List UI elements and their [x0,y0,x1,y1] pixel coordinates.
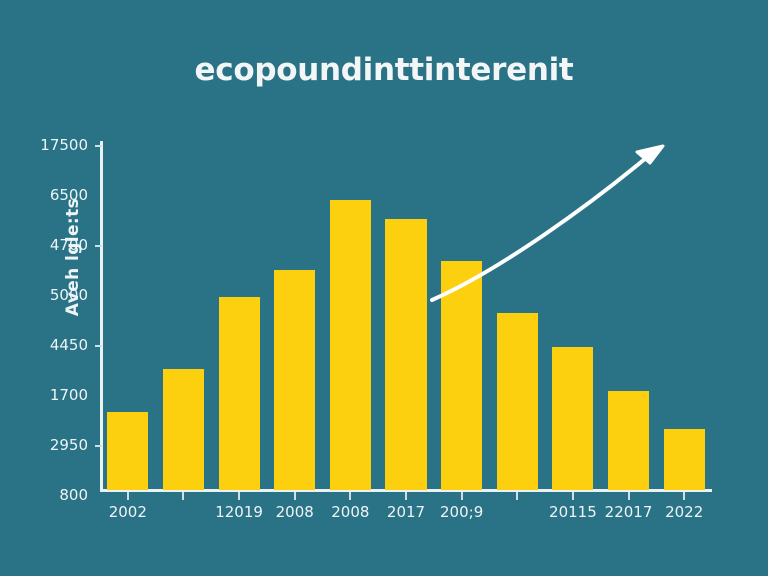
y-axis-tick-label: 4450 [0,336,88,354]
x-axis-tick-mark [683,492,685,500]
x-axis-tick-label: 12019 [215,503,263,521]
x-axis-tick-mark [572,492,574,500]
x-axis-tick-label: 22017 [605,503,653,521]
bar[interactable] [107,412,148,490]
x-axis-tick-mark [182,492,184,500]
bar[interactable] [608,391,649,490]
x-axis-tick-label: 2008 [331,503,369,521]
bar[interactable] [385,219,426,490]
x-axis-tick-mark [127,492,129,500]
y-axis-tick-label: 800 [0,486,88,504]
y-axis-tick-label: 4700 [0,236,88,254]
x-axis-tick-label: 2008 [276,503,314,521]
x-axis-tick-mark [349,492,351,500]
bar[interactable] [274,270,315,490]
bar[interactable] [330,200,371,490]
plot-area [100,140,712,490]
chart-canvas: ecopoundinttinterenit Aveh lgle:ts 17500… [0,0,768,576]
x-axis-tick-label: 2022 [665,503,703,521]
y-axis-tick-label: 6500 [0,186,88,204]
bar[interactable] [664,429,705,490]
x-axis-tick-mark [628,492,630,500]
bar[interactable] [497,313,538,490]
x-axis-tick-mark [294,492,296,500]
y-axis-tick-label: 17500 [0,136,88,154]
bar[interactable] [441,261,482,490]
x-axis-tick-label: 2002 [109,503,147,521]
y-axis-tick-label: 5000 [0,286,88,304]
x-axis-tick-mark [405,492,407,500]
bar[interactable] [552,347,593,490]
y-axis-tick-label: 1700 [0,386,88,404]
x-axis-tick-mark [461,492,463,500]
chart-title: ecopoundinttinterenit [0,52,768,88]
x-axis-tick-label: 2017 [387,503,425,521]
bar[interactable] [163,369,204,490]
y-axis-tick-label: 2950 [0,436,88,454]
bar[interactable] [219,297,260,490]
x-axis-tick-label: 20115 [549,503,597,521]
x-axis-tick-mark [238,492,240,500]
x-axis-tick-label: 200;9 [440,503,483,521]
x-axis-tick-mark [516,492,518,500]
